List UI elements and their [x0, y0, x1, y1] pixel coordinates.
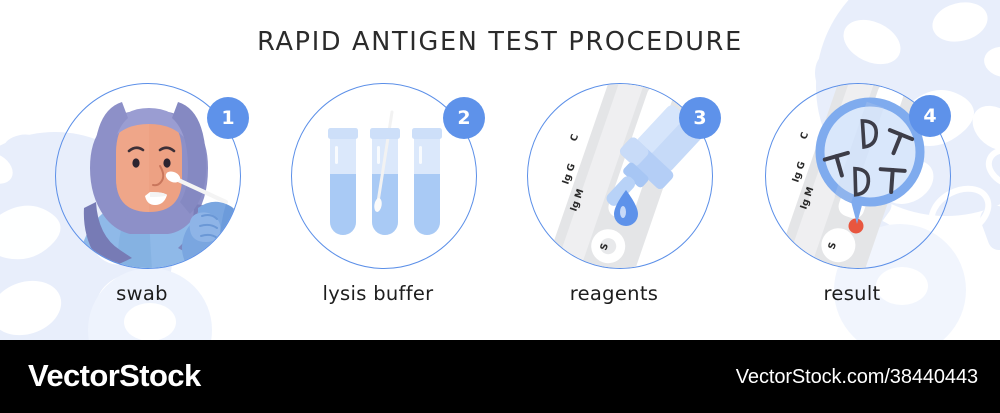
- test-tube-2-with-swab: [370, 112, 400, 235]
- cassette-label-c: C: [568, 133, 581, 143]
- page-title: RAPID ANTIGEN TEST PROCEDURE: [0, 27, 1000, 57]
- step-3-label: reagents: [514, 282, 714, 305]
- cassette-label-c: C: [798, 131, 811, 141]
- step-1-badge: 1: [207, 97, 249, 139]
- step-2-number: 2: [457, 107, 470, 129]
- step-4-badge: 4: [909, 95, 951, 137]
- step-2-badge: 2: [443, 97, 485, 139]
- illustration-canvas: RAPID ANTIGEN TEST PROCEDURE: [0, 0, 1000, 413]
- step-4-result: C Ig G Ig M S: [752, 83, 952, 313]
- step-2-lysis-buffer: 2 lysis buffer: [278, 83, 478, 313]
- footer-watermark-bar: VectorStock VectorStock.com/38440443: [0, 340, 1000, 413]
- sample-spot: [849, 219, 864, 234]
- test-tube-1: [328, 128, 358, 235]
- step-4-label: result: [752, 282, 952, 305]
- step-2-label: lysis buffer: [278, 282, 478, 305]
- vectorstock-logo: VectorStock: [28, 358, 201, 394]
- step-1-swab: 1 swab: [42, 83, 242, 313]
- step-1-label: swab: [42, 282, 242, 305]
- vectorstock-url: VectorStock.com/38440443: [736, 366, 978, 389]
- step-3-badge: 3: [679, 97, 721, 139]
- step-1-number: 1: [221, 107, 234, 129]
- test-tube-3: [412, 128, 442, 235]
- step-3-number: 3: [693, 107, 706, 129]
- step-3-reagents: C Ig G Ig M S: [514, 83, 714, 313]
- step-4-number: 4: [923, 105, 936, 127]
